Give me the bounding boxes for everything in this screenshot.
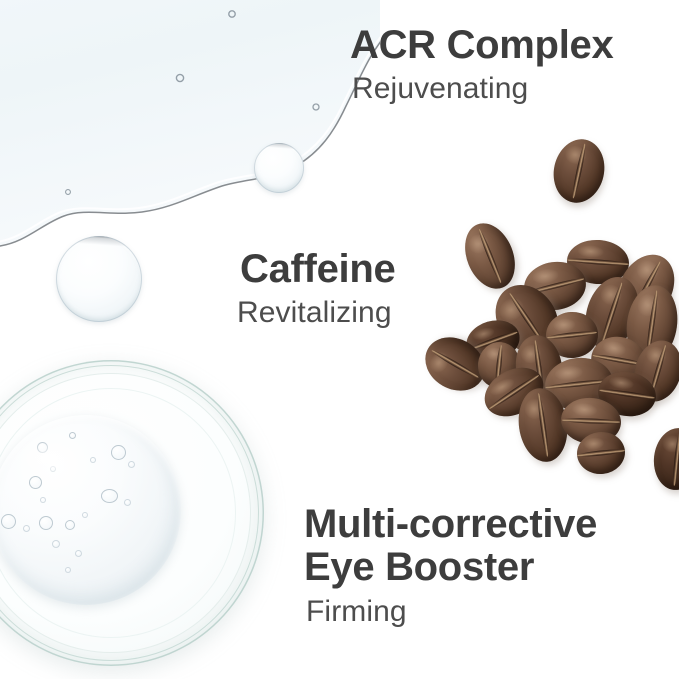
- acr-complex-headline: ACR Complex: [350, 24, 613, 67]
- caffeine-subline: Revitalizing: [237, 296, 395, 330]
- eye-booster-headline-line2: Eye Booster: [304, 546, 597, 589]
- acr-complex-subline: Rejuvenating: [352, 72, 613, 106]
- caffeine-headline: Caffeine: [240, 248, 395, 291]
- ingredient-block-eye-booster: Multi-corrective Eye Booster Firming: [304, 503, 597, 629]
- ingredient-block-caffeine: Caffeine Revitalizing: [240, 248, 395, 330]
- gel-droplet-large: [56, 236, 142, 322]
- ingredient-block-acr-complex: ACR Complex Rejuvenating: [350, 24, 613, 106]
- glass-petri-dish: [0, 360, 264, 666]
- gel-spill-image: [0, 0, 380, 260]
- coffee-bean: [548, 135, 610, 208]
- gel-droplet-small: [254, 143, 304, 193]
- eye-booster-headline-line1: Multi-corrective: [304, 503, 597, 546]
- eye-booster-subline: Firming: [306, 595, 597, 629]
- coffee-bean: [456, 216, 524, 296]
- product-ingredient-infographic: ACR Complex Rejuvenating Caffeine Revita…: [0, 0, 679, 679]
- coffee-bean: [651, 426, 679, 492]
